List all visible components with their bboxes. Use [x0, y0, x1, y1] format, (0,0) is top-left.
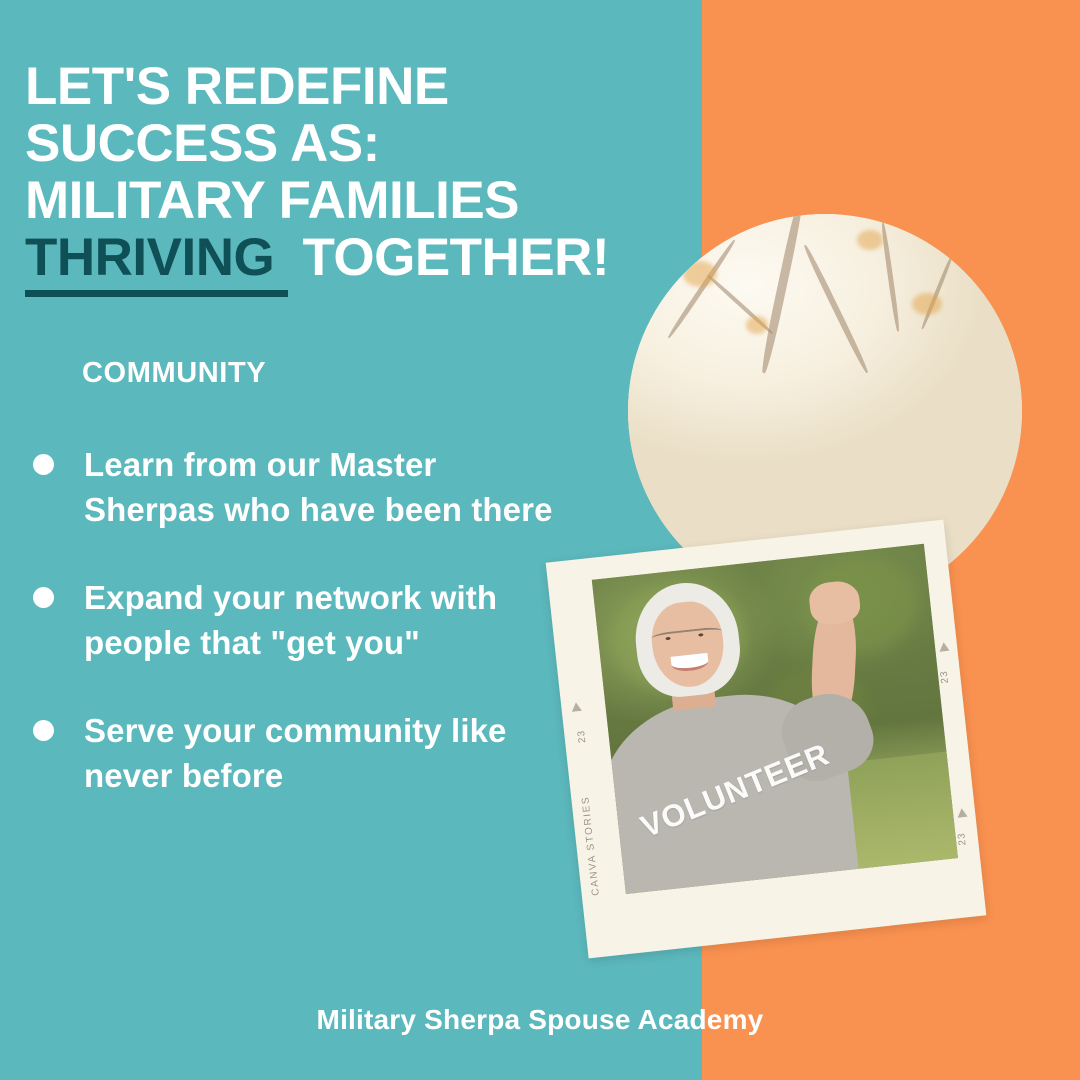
headline-highlight-thriving: THRIVING — [25, 228, 288, 297]
film-triangle-icon — [957, 808, 968, 818]
autumn-leaves — [857, 230, 883, 250]
polaroid-photo-volunteer-woman: VOLUNTEER CANVA STORIES 23 23 23 — [546, 520, 987, 959]
section-label-community: COMMUNITY — [82, 357, 266, 390]
headline-line-4-rest: TOGETHER! — [288, 228, 609, 287]
film-brand-label: CANVA STORIES — [580, 795, 602, 896]
bullet-text: Learn from our Master Sherpas who have b… — [84, 442, 553, 532]
polaroid-image: VOLUNTEER — [592, 544, 958, 894]
list-item: Expand your network with people that "ge… — [33, 575, 553, 665]
film-triangle-icon — [939, 642, 950, 652]
list-item: Serve your community like never before — [33, 708, 553, 798]
footer-brand: Military Sherpa Spouse Academy — [0, 1004, 1080, 1036]
page-title: LET'S REDEFINE SUCCESS AS: MILITARY FAMI… — [25, 58, 705, 286]
headline-line-2: SUCCESS AS: — [25, 115, 705, 172]
film-frame-number: 23 — [576, 729, 588, 743]
bullet-dot-icon — [33, 720, 54, 741]
film-triangle-icon — [571, 702, 582, 712]
headline-line-3: MILITARY FAMILIES — [25, 172, 705, 229]
bullet-text: Serve your community like never before — [84, 708, 553, 798]
benefit-list: Learn from our Master Sherpas who have b… — [33, 442, 553, 841]
headline-line-1: LET'S REDEFINE — [25, 58, 705, 115]
autumn-leaves — [912, 293, 942, 315]
bullet-dot-icon — [33, 454, 54, 475]
film-frame-number: 23 — [939, 670, 951, 684]
poster-canvas: LET'S REDEFINE SUCCESS AS: MILITARY FAMI… — [0, 0, 1080, 1080]
list-item: Learn from our Master Sherpas who have b… — [33, 442, 553, 532]
film-frame-number: 23 — [956, 832, 968, 846]
bullet-dot-icon — [33, 587, 54, 608]
headline-line-4: THRIVING TOGETHER! — [25, 229, 705, 286]
bullet-text: Expand your network with people that "ge… — [84, 575, 553, 665]
